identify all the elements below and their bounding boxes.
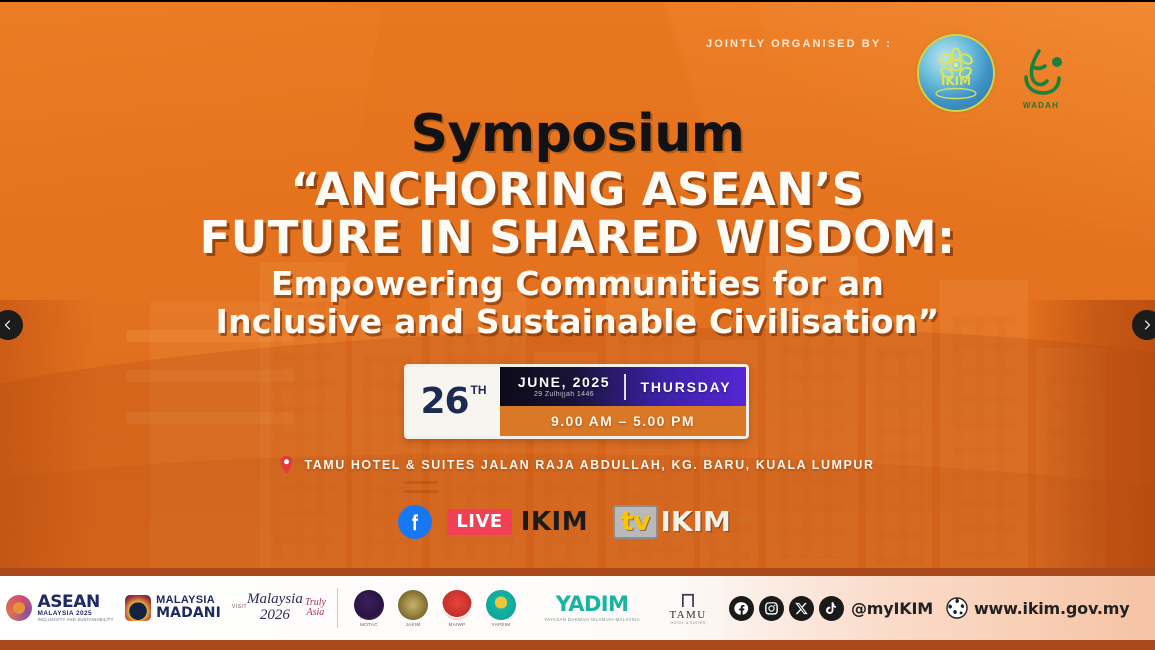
date-month-weekday-bar: JUNE, 2025 29 Zulhijjah 1446 THURSDAY (500, 367, 746, 406)
venue-row: TAMU HOTEL & SUITES JALAN RAJA ABDULLAH,… (0, 455, 1155, 475)
yadim-tagline: YAYASAN DAKWAH ISLAMIAH MALAYSIA (544, 617, 640, 622)
sponsor-badge-yapeim: YAPEIM (479, 590, 523, 627)
venue-address: TAMU HOTEL & SUITES JALAN RAJA ABDULLAH,… (304, 458, 874, 472)
sponsor-divider (337, 588, 338, 628)
location-pin-icon (280, 455, 293, 475)
date-hijri: 29 Zulhijjah 1446 (504, 391, 624, 398)
asean-label-1: ASEAN (37, 594, 113, 611)
madani-mark-icon (125, 595, 151, 621)
sponsor-truly-asia: VISIT Malaysia 2026 Truly Asia (232, 592, 328, 624)
svg-text:IKIM: IKIM (941, 74, 971, 88)
yapeim-badge-icon (486, 590, 516, 620)
wadah-logo-icon: WADAH (1010, 36, 1072, 110)
tv-prefix: tv (621, 507, 650, 537)
yadim-label: YADIM (556, 594, 629, 615)
sponsor-footer: ASEAN MALAYSIA 2025 INCLUSIVITY AND SUST… (0, 568, 1155, 650)
truly-asia-label-2: Truly Asia (303, 598, 328, 619)
left-shadow-slab (0, 300, 96, 592)
tv-tagline: ikim.fm (735, 517, 757, 523)
sponsor-asean: ASEAN MALAYSIA 2025 INCLUSIVITY AND SUST… (6, 594, 114, 623)
next-slide-arrow[interactable] (1132, 310, 1155, 340)
date-month-year: JUNE, 2025 (504, 375, 624, 390)
building-silhouette (866, 316, 932, 592)
pagoda-silhouette (150, 302, 270, 592)
sponsor-strip: ASEAN MALAYSIA 2025 INCLUSIVITY AND SUST… (0, 576, 1155, 640)
motac-badge-caption: MOTAC (360, 622, 378, 627)
date-weekday: THURSDAY (626, 379, 746, 395)
poster-title-block: Symposium “ANCHORING ASEAN’S FUTURE IN S… (0, 108, 1155, 341)
asean-ring-icon (6, 595, 32, 621)
tiktok-icon[interactable] (819, 596, 844, 621)
title-subtitle-line1: Empowering Communities for an (0, 265, 1155, 303)
chevron-left-icon (2, 319, 14, 331)
sponsor-malaysia-madani: MALAYSIA MADANI (124, 595, 222, 621)
date-day-block: 26 TH (407, 367, 500, 436)
jakim-badge-icon (398, 590, 428, 620)
tamu-tagline: HOTEL & SUITES (670, 621, 705, 625)
decorative-lines (404, 481, 438, 501)
globe-icon (945, 596, 969, 620)
ikim-globe-logo-icon: IKIM (919, 36, 993, 110)
sponsor-yadim: YADIM YAYASAN DAKWAH ISLAMIAH MALAYSIA (529, 594, 655, 622)
event-poster-slide: JOINTLY ORGANISED BY : IKIM (0, 0, 1155, 650)
maiwp-badge-caption: MAIWP (448, 622, 465, 627)
chevron-right-icon (1141, 319, 1153, 331)
title-headline-line2: FUTURE IN SHARED WISDOM: (0, 214, 1155, 262)
jointly-organised-by: JOINTLY ORGANISED BY : (706, 38, 892, 50)
sponsor-badge-maiwp: MAIWP (435, 590, 479, 627)
truly-asia-label-1: Malaysia 2026 (247, 592, 303, 624)
right-shadow-slab (1025, 300, 1155, 592)
tv-box: tv (613, 505, 658, 539)
event-date-card: 26 TH JUNE, 2025 29 Zulhijjah 1446 THURS… (404, 364, 749, 439)
title-headline-line1: “ANCHORING ASEAN’S (0, 166, 1155, 214)
tamu-label: TAMU (669, 609, 706, 621)
tv-channel-name: IKIM (660, 508, 730, 536)
x-twitter-icon[interactable] (789, 596, 814, 621)
broadcast-channel-label: IKIM (521, 507, 588, 537)
date-time-range: 9.00 AM – 5.00 PM (500, 406, 746, 436)
tv-ikim-logo: tv IKIM ikim.fm (613, 505, 757, 539)
sponsor-badge-motac: MOTAC (347, 590, 391, 627)
date-month-wrap: JUNE, 2025 29 Zulhijjah 1446 (500, 375, 624, 398)
maiwp-badge-icon (442, 590, 472, 620)
sponsor-badge-jakim: JAKIM (391, 590, 435, 627)
date-day-number: 26 (420, 381, 468, 422)
title-subtitle-line2: Inclusive and Sustainable Civilisation” (0, 303, 1155, 341)
website-url[interactable]: www.ikim.gov.my (974, 599, 1130, 618)
social-handle[interactable]: @myIKIM (851, 599, 933, 618)
sponsor-tamu: ⊓ TAMU HOTEL & SUITES (659, 591, 717, 626)
live-badge: LIVE (447, 509, 511, 535)
jointly-organised-label: JOINTLY ORGANISED BY : (706, 38, 892, 50)
yapeim-badge-caption: YAPEIM (492, 622, 511, 627)
motac-badge-icon (354, 590, 384, 620)
asean-label-3: INCLUSIVITY AND SUSTAINABILITY (37, 618, 113, 622)
top-letterbox (0, 0, 1155, 2)
social-links (729, 596, 844, 621)
date-day-ordinal: TH (471, 383, 487, 397)
title-eyebrow: Symposium (0, 108, 1155, 160)
facebook-icon (398, 505, 432, 539)
truly-asia-label-0: VISIT (232, 605, 247, 610)
instagram-icon[interactable] (759, 596, 784, 621)
jakim-badge-caption: JAKIM (405, 622, 420, 627)
date-detail-block: JUNE, 2025 29 Zulhijjah 1446 THURSDAY 9.… (500, 367, 746, 436)
madani-label-2: MADANI (156, 606, 221, 620)
facebook-icon[interactable] (729, 596, 754, 621)
broadcast-row: LIVE IKIM tv IKIM ikim.fm (0, 505, 1155, 539)
tamu-mark-icon: ⊓ (680, 591, 696, 610)
